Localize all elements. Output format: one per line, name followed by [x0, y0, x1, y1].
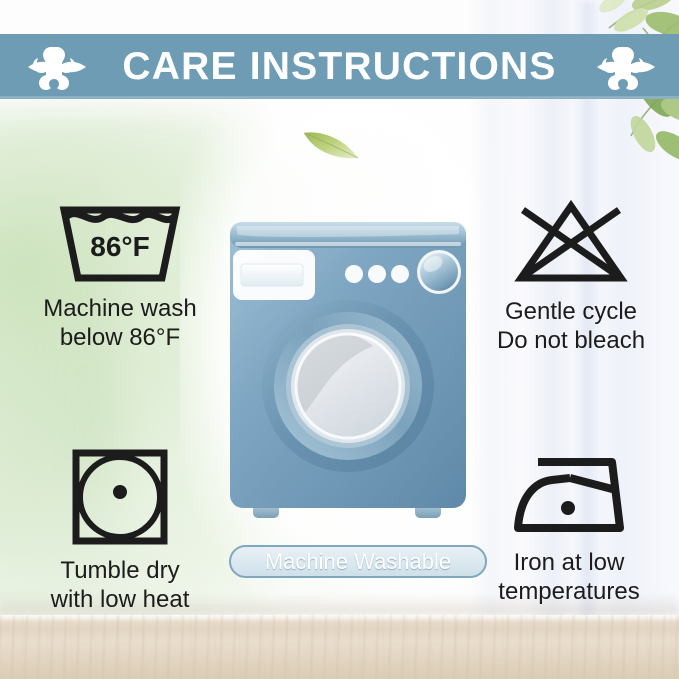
- machine-washable-badge-text: Machine Washable: [265, 551, 451, 573]
- wash-temperature-value: 86°F: [90, 231, 149, 262]
- indicator-light-1: [345, 265, 363, 283]
- care-item-machine-wash: 86°F Machine wash below 86°F: [14, 200, 226, 352]
- indicator-light-3: [391, 265, 409, 283]
- floating-leaf-icon: [300, 120, 362, 164]
- care-item-tumble-dry: Tumble dry with low heat: [16, 448, 224, 614]
- fleur-de-lis-icon-right: [595, 44, 657, 90]
- wash-tub-icon: 86°F: [58, 200, 182, 286]
- machine-washable-badge: Machine Washable: [229, 545, 487, 578]
- header-banner: CARE INSTRUCTIONS: [0, 34, 679, 99]
- washing-machine-illustration: [227, 212, 469, 530]
- care-item-do-not-bleach: Gentle cycle Do not bleach: [471, 198, 671, 355]
- wood-grain-texture: [0, 615, 679, 679]
- care-label-do-not-bleach: Gentle cycle Do not bleach: [471, 297, 671, 355]
- care-label-machine-wash: Machine wash below 86°F: [14, 294, 226, 352]
- iron-one-dot-icon: [508, 452, 630, 538]
- crossed-triangle-icon: [511, 198, 631, 288]
- tumble-dry-low-icon: [71, 448, 169, 546]
- indicator-light-2: [368, 265, 386, 283]
- care-instructions-graphic: CARE INSTRUCTIONS 86°F Machine was: [0, 0, 679, 679]
- care-label-tumble-dry: Tumble dry with low heat: [16, 556, 224, 614]
- care-label-iron-low: Iron at low temperatures: [469, 548, 669, 606]
- fleur-de-lis-icon-left: [26, 44, 88, 90]
- page-title: CARE INSTRUCTIONS: [122, 47, 556, 86]
- care-item-iron-low: Iron at low temperatures: [469, 452, 669, 606]
